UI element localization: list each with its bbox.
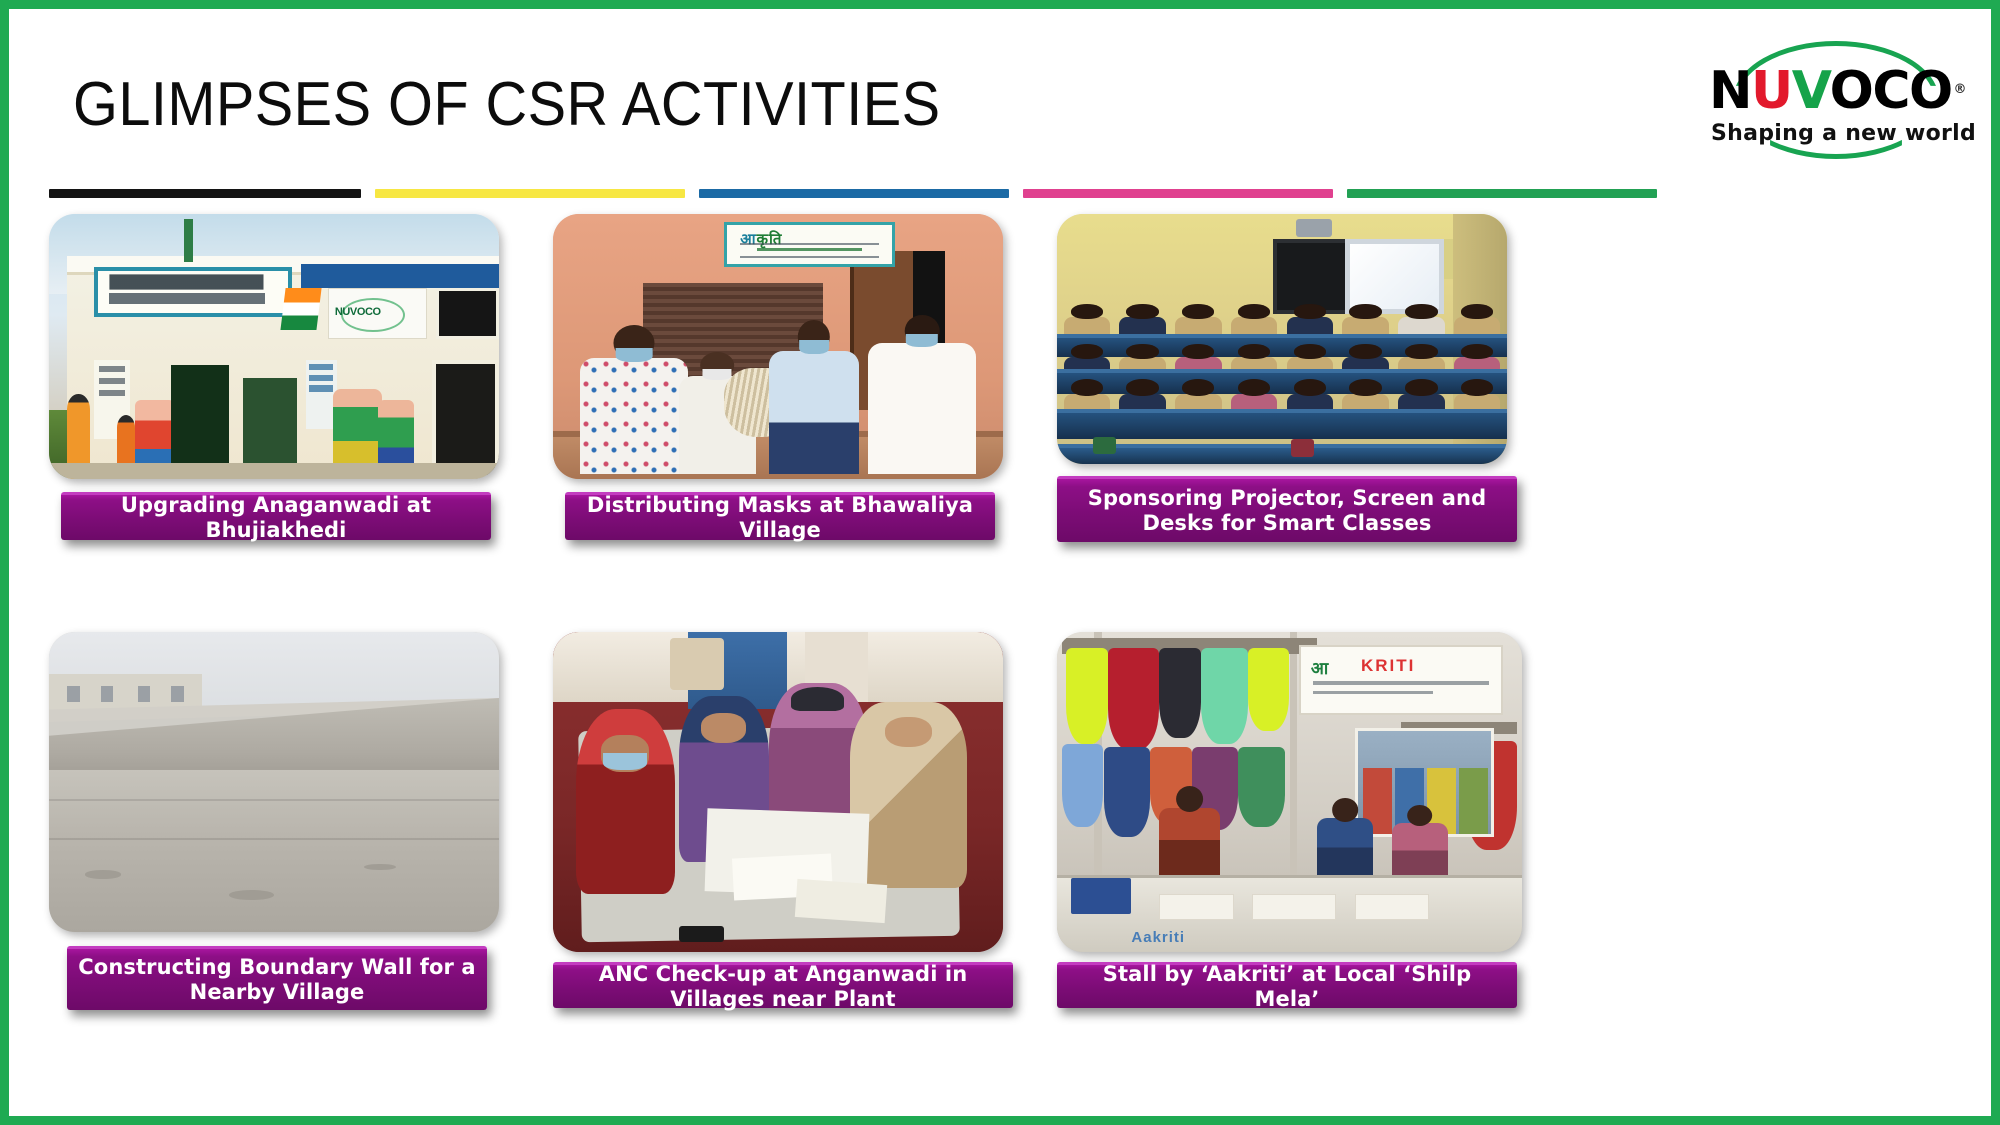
banner-word-2: KRITI	[1361, 656, 1415, 676]
table-text: Aakriti	[1131, 929, 1185, 946]
indian-flag-icon	[280, 288, 321, 330]
rubble	[229, 890, 274, 900]
stall-attendant-1	[1159, 786, 1219, 888]
caption-upgrading-anganwadi: Upgrading Anaganwadi at Bhujiakhedi	[61, 492, 491, 540]
projector-icon	[1296, 219, 1332, 237]
garment	[1062, 744, 1104, 827]
folded-goods	[1159, 894, 1233, 920]
banner-word-1: आ	[1311, 656, 1329, 679]
caption-distributing-masks: Distributing Masks at Bhawaliya Village	[565, 492, 995, 540]
person-1	[580, 325, 688, 473]
ground-seam	[49, 838, 499, 840]
divider-segment-black	[49, 189, 361, 198]
garment	[1201, 648, 1248, 744]
garment	[1108, 648, 1159, 750]
desk-row-4	[1057, 444, 1507, 464]
hindi-signboard	[94, 267, 292, 317]
signboard-line-1	[109, 274, 276, 289]
photo-upgrading-anganwadi	[49, 214, 499, 479]
ground	[49, 770, 499, 932]
woman-1	[576, 709, 675, 895]
banner-text-line-4	[740, 256, 879, 258]
banner-text-line-2	[1313, 681, 1490, 684]
logo-letters-oco: OCO	[1830, 61, 1952, 121]
garment	[1104, 747, 1151, 837]
door-right	[432, 360, 500, 479]
aakriti-banner: आ KRITI	[1299, 645, 1504, 715]
blue-folder	[1071, 878, 1131, 913]
divider-segment-pink	[1023, 189, 1333, 198]
desk-row-3	[1057, 409, 1507, 439]
register-book-2	[795, 879, 887, 924]
slide-canvas: GLIMPSES OF CSR ACTIVITIES NUVOCO® Shapi…	[0, 0, 2000, 1125]
school-bag	[1291, 439, 1314, 457]
garment	[1238, 747, 1285, 827]
face-mask-icon	[799, 340, 829, 354]
person-3	[769, 320, 859, 474]
rubble	[364, 864, 396, 870]
card-upgrading-anganwadi[interactable]: Upgrading Anaganwadi at Bhujiakhedi	[49, 214, 519, 604]
photo-aakriti-stall: आ KRITI	[1057, 632, 1522, 952]
ground	[49, 463, 499, 479]
card-sponsoring-projector[interactable]: Sponsoring Projector, Screen and Desks f…	[1057, 214, 1537, 604]
caption-aakriti-stall: Stall by ‘Aakriti’ at Local ‘Shilp Mela’	[1057, 962, 1517, 1008]
display-photo	[1459, 768, 1488, 834]
card-distributing-masks[interactable]: आकृति Distributing Masks at Bhawaliya	[553, 214, 1023, 604]
logo-tagline: Shaping a new world	[1711, 121, 1976, 146]
projector-screen	[1345, 239, 1444, 314]
blue-fascia	[301, 264, 499, 288]
photo-boundary-wall	[49, 632, 499, 932]
card-constructing-boundary-wall[interactable]: Constructing Boundary Wall for a Nearby …	[49, 632, 519, 1032]
caption-sponsoring-projector: Sponsoring Projector, Screen and Desks f…	[1057, 476, 1517, 542]
person-4	[868, 315, 976, 474]
remote-control	[679, 926, 724, 942]
rubble	[85, 870, 121, 878]
banner-title: आकृति	[740, 229, 782, 249]
logo-letter-n: N	[1709, 61, 1751, 121]
door-left	[171, 365, 230, 479]
garment	[1066, 648, 1108, 744]
face-mask-icon	[616, 348, 653, 363]
folded-goods	[1252, 894, 1336, 920]
caption-constructing-boundary-wall: Constructing Boundary Wall for a Nearby …	[67, 946, 487, 1010]
school-bag	[1093, 437, 1116, 455]
banner-text-line-3	[1313, 691, 1433, 694]
divider-segment-green	[1347, 189, 1657, 198]
banner-word-2: कृति	[757, 231, 783, 248]
photo-scene-boundary-wall	[49, 632, 499, 932]
banner-text-line-2	[740, 243, 879, 245]
nuvoco-logo: NUVOCO® Shaping a new world	[1703, 39, 1969, 157]
photo-scene-anganwadi	[49, 214, 499, 479]
page-title: GLIMPSES OF CSR ACTIVITIES	[73, 69, 941, 140]
logo-letter-v: V	[1792, 61, 1830, 121]
card-aakriti-stall[interactable]: आ KRITI	[1057, 632, 1537, 1032]
signboard-line-2	[109, 293, 265, 304]
cloth-bag	[670, 638, 724, 689]
face-mask-icon	[906, 334, 938, 347]
face-mask-icon	[603, 753, 647, 770]
folded-goods	[1355, 894, 1429, 920]
garment	[1159, 648, 1201, 738]
photo-scene-classroom	[1057, 214, 1507, 464]
aakriti-banner: आकृति	[724, 222, 895, 267]
logo-letter-u: U	[1751, 61, 1792, 121]
face-mask-icon	[703, 369, 732, 380]
divider-row	[49, 189, 1679, 199]
banner-word-1: आ	[740, 231, 756, 248]
photo-scene-anc	[553, 632, 1003, 952]
caption-anc-checkup: ANC Check-up at Anganwadi in Villages ne…	[553, 962, 1013, 1008]
divider-segment-yellow	[375, 189, 685, 198]
photo-smart-classroom	[1057, 214, 1507, 464]
photo-scene-masks: आकृति	[553, 214, 1003, 479]
divider-segment-blue	[699, 189, 1009, 198]
csr-activity-grid: Upgrading Anaganwadi at Bhujiakhedi आकृत…	[49, 214, 1959, 1094]
photo-anc-checkup	[553, 632, 1003, 952]
wall-plaque	[436, 288, 499, 338]
hair-cap-icon	[791, 687, 844, 711]
registered-mark-icon: ®	[1954, 83, 1966, 96]
ground-seam	[49, 799, 499, 801]
garment	[1248, 648, 1290, 731]
flag-pole	[184, 219, 193, 261]
photo-scene-stall: आ KRITI	[1057, 632, 1522, 952]
wall-nuvoco-logo	[328, 288, 427, 338]
photo-distributing-masks: आकृति	[553, 214, 1003, 479]
card-anc-checkup[interactable]: ANC Check-up at Anganwadi in Villages ne…	[553, 632, 1023, 1032]
banner-text-line-3	[757, 248, 863, 251]
logo-wordmark: NUVOCO®	[1709, 65, 1963, 117]
